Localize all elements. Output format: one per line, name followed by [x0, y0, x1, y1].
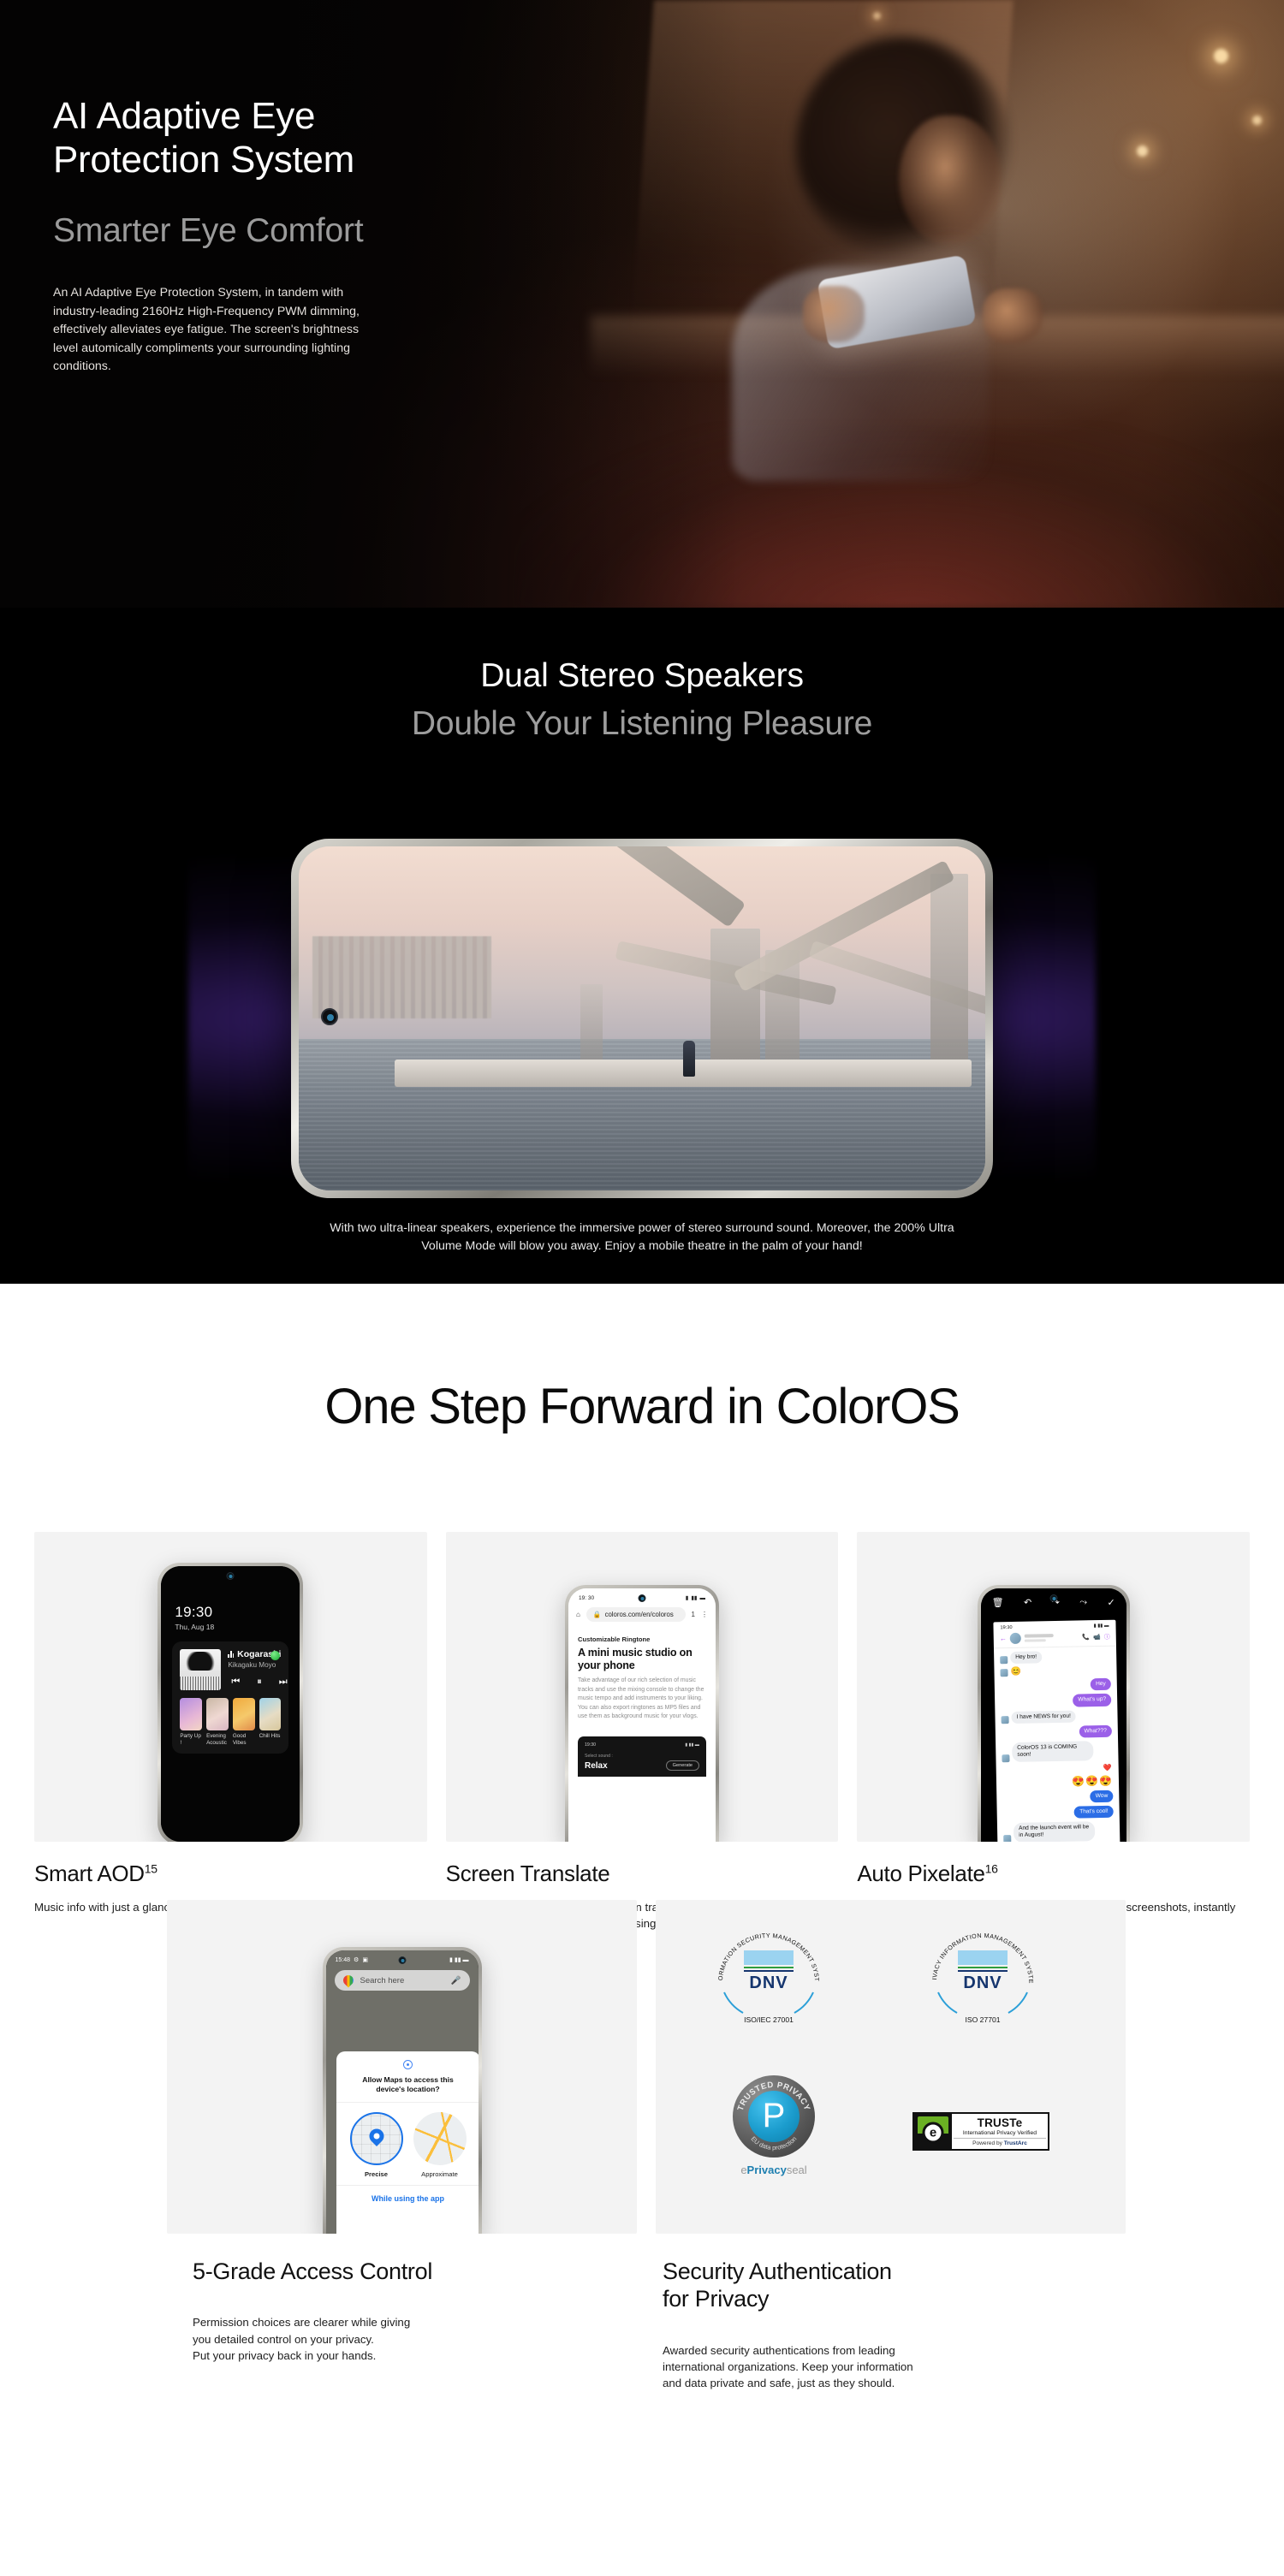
content-paragraph: Take advantage of our rich selection of … [578, 1677, 706, 1721]
precision-options: Precise Approximate [336, 2103, 479, 2185]
powered-prefix: Powered by [972, 2140, 1004, 2146]
chat-bubble: And the launch event will be in August! [1014, 1821, 1096, 1842]
chat-bubble: What's up? [1073, 1694, 1111, 1706]
list-item: ColorOS 13 is COMING soon! [1002, 1741, 1112, 1762]
phone-mockup-aod: 19:30 Thu, Aug 18 Kogarashi [158, 1563, 303, 1842]
avatar [1000, 1656, 1008, 1664]
precise-map-thumb [350, 2112, 403, 2165]
lockscreen-time: 19:30 [175, 1604, 212, 1621]
chat-bubble: That's cool! [1074, 1806, 1114, 1819]
cert-standard-label: ISO/IEC 27001 [744, 2015, 794, 2024]
chat-emoji: 😊 [1010, 1667, 1021, 1677]
dnv-logo-mark-1: DNV [744, 1950, 794, 1993]
eprivacy-label-e: e [740, 2163, 746, 2176]
chat-bubble: ColorOS 13 is COMING soon! [1012, 1741, 1094, 1761]
hero-title-line-1: AI Adaptive Eye [53, 95, 315, 137]
eprivacy-p-disc: P [748, 2091, 800, 2142]
option-label: Precise [350, 2170, 403, 2178]
list-item: I have NEWS for you! [1001, 1709, 1111, 1724]
previous-track-icon[interactable]: ⏮ [231, 1677, 240, 1688]
dnv-wordmark: DNV [744, 1974, 794, 1993]
feature-card-smart-aod: 19:30 Thu, Aug 18 Kogarashi [34, 1532, 427, 1932]
phone-call-icon[interactable]: 📞 [1082, 1634, 1090, 1641]
footnote-marker: 15 [145, 1861, 158, 1875]
content-heading: A mini music studio on your phone [578, 1647, 706, 1671]
playlist-item[interactable]: Party Up ! [180, 1698, 202, 1746]
playlist-row: Party Up ! Evening Acoustic Good Vibes [180, 1698, 281, 1746]
equalizer-icon [228, 1651, 234, 1658]
wifi-icon: ▮ [686, 1594, 689, 1601]
chat-emoji: ❤️ [1103, 1763, 1112, 1771]
front-camera-icon [398, 1956, 406, 1964]
notification-icon: ▣ [362, 1956, 368, 1963]
truste-logo-block: e [914, 2114, 952, 2149]
powered-brand: TrustArc [1004, 2140, 1027, 2146]
status-left: 15:48 ⚙ ▣ [336, 1956, 368, 1963]
avatar [1001, 1716, 1008, 1724]
search-input[interactable]: Search here 🎤 [335, 1970, 470, 1991]
dnv-ring-2: PRIVACY INFORMATION MANAGEMENT SYSTEM DN… [928, 1924, 1037, 2023]
screen-translate-visual: 19: 30 ▮ ▮▮ ▬ ⌂ 🔒 [446, 1532, 839, 1842]
heading-line: Security Authentication [663, 2258, 892, 2284]
body-line: Put your privacy back in your hands. [193, 2349, 376, 2362]
chat-status-time: 19:30 [1000, 1625, 1012, 1630]
playlist-thumb [233, 1698, 255, 1730]
card-heading-security-auth: Security Authentication for Privacy [663, 2258, 1126, 2313]
screenshot-editor: 🗑 ↶ ↷ ⤳ ✓ 19:30 ▮ ▮▮ ▬ [981, 1588, 1126, 1842]
avatar [1000, 1669, 1008, 1677]
tab-count-icon[interactable]: 1 [692, 1611, 695, 1618]
front-camera-icon [321, 1008, 338, 1025]
front-camera-icon [639, 1594, 646, 1602]
maps-permission-ui: 15:48 ⚙ ▣ ▮ ▮▮ ▬ Search here 🎤 [326, 1950, 479, 2234]
dnv-swoosh-left [938, 1992, 957, 2013]
feature-grid-bottom: 15:48 ⚙ ▣ ▮ ▮▮ ▬ Search here 🎤 [167, 1900, 1126, 2392]
while-using-app-button[interactable]: While using the app [336, 2185, 479, 2211]
feature-card-screen-translate: 19: 30 ▮ ▮▮ ▬ ⌂ 🔒 [446, 1532, 839, 1932]
playlist-item[interactable]: Chill Hits [259, 1698, 282, 1746]
feature-grid-top: 19:30 Thu, Aug 18 Kogarashi [34, 1532, 1250, 1932]
dnv-swoosh-right [794, 1992, 813, 2013]
avatar [1003, 1835, 1011, 1842]
maps-logo-icon [341, 1974, 355, 1988]
hero-title: AI Adaptive Eye Protection System [53, 94, 601, 181]
overflow-menu-icon[interactable]: ⋮ [701, 1611, 708, 1618]
feature-card-security-auth: INFORMATION SECURITY MANAGEMENT SYSTEM D… [656, 1900, 1126, 2392]
option-approximate[interactable]: Approximate [413, 2112, 467, 2178]
front-camera-icon [227, 1572, 235, 1580]
lockscreen-date: Thu, Aug 18 [175, 1623, 214, 1631]
option-precise[interactable]: Precise [350, 2112, 403, 2178]
body-line: Permission choices are clearer while giv… [193, 2316, 410, 2329]
inner-select-label: Select sound : [585, 1754, 699, 1759]
music-widget[interactable]: Kogarashi Kikagaku Moyo ⏮ ⏸ ⏭ ♡ [172, 1641, 288, 1754]
chat-bubble: Wow [1090, 1790, 1113, 1802]
dnv-logo-mark-2: DNV [958, 1950, 1008, 1993]
card-heading-text: Screen Translate [446, 1861, 610, 1886]
game-character [683, 1041, 695, 1077]
card-heading-access-control: 5-Grade Access Control [193, 2258, 637, 2285]
inner-status-time: 19:30 [585, 1742, 596, 1748]
truste-title: TRUSTe [954, 2116, 1046, 2129]
security-auth-visual: INFORMATION SECURITY MANAGEMENT SYSTEM D… [656, 1900, 1126, 2234]
truste-subtitle: International Privacy Verified [954, 2130, 1046, 2139]
dnv-swoosh-right [1008, 1992, 1027, 2013]
next-track-icon[interactable]: ⏭ [279, 1677, 288, 1688]
artist-name: Kikagaku Moyo [228, 1661, 281, 1669]
video-call-icon[interactable]: 📹 [1093, 1633, 1101, 1640]
browser-content: Customizable Ringtone A mini music studi… [568, 1628, 716, 1729]
card-body-security-auth: Awarded security authentications from le… [663, 2342, 1126, 2392]
access-control-text: 5-Grade Access Control Permission choice… [167, 2258, 637, 2364]
card-heading-text: Smart AOD [34, 1861, 145, 1886]
cert-dnv-isms: INFORMATION SECURITY MANAGEMENT SYSTEM D… [714, 1924, 823, 2023]
signal-icon: ▮▮ [691, 1594, 697, 1601]
chat-header: ← 📞 📹 ⓘ [993, 1629, 1115, 1649]
phone-mockup-browser: 19: 30 ▮ ▮▮ ▬ ⌂ 🔒 [565, 1585, 719, 1842]
location-pin-icon [403, 2060, 413, 2069]
truste-text-block: TRUSTe International Privacy Verified Po… [952, 2114, 1048, 2149]
permission-question: Allow Maps to access this device's locat… [336, 2069, 479, 2103]
eprivacy-label-seal: seal [787, 2163, 807, 2176]
eprivacy-wordmark: ePrivacyseal [722, 2163, 825, 2176]
phone-screen-browser: 19: 30 ▮ ▮▮ ▬ ⌂ 🔒 [568, 1588, 716, 1842]
truste-powered-by: Powered by TrustArc [954, 2140, 1046, 2146]
back-arrow-icon[interactable]: ← [999, 1635, 1006, 1642]
coloros-title: One Step Forward in ColorOS [0, 1284, 1284, 1435]
url-text: coloros.com/en/coloros [605, 1611, 674, 1618]
smart-aod-visual: 19:30 Thu, Aug 18 Kogarashi [34, 1532, 427, 1842]
coloros-section: One Step Forward in ColorOS 19:30 Thu, A… [0, 1284, 1284, 2576]
playlist-title: Good Vibes [233, 1733, 255, 1746]
dnv-bar-lightblue [958, 1950, 1008, 1965]
access-control-visual: 15:48 ⚙ ▣ ▮ ▮▮ ▬ Search here 🎤 [167, 1900, 637, 2234]
option-label: Approximate [413, 2170, 467, 2178]
phone-mockup-chat: 🗑 ↶ ↷ ⤳ ✓ 19:30 ▮ ▮▮ ▬ [978, 1585, 1130, 1842]
inner-status-icons: ▮ ▮▮ ▬ [685, 1742, 699, 1748]
chat-screenshot: 19:30 ▮ ▮▮ ▬ ← 📞 📹 [993, 1620, 1120, 1842]
microphone-icon[interactable]: 🎤 [451, 1976, 461, 1985]
playlist-thumb [259, 1698, 282, 1730]
status-time: 15:48 [336, 1957, 351, 1963]
status-icons: ▮ ▮▮ ▬ [686, 1594, 705, 1601]
hero-eye-protection-section: AI Adaptive Eye Protection System Smarte… [0, 0, 1284, 608]
card-body-access-control: Permission choices are clearer while giv… [193, 2314, 637, 2364]
search-placeholder: Search here [360, 1976, 444, 1985]
playlist-thumb [180, 1698, 202, 1730]
heading-line: for Privacy [663, 2286, 769, 2312]
dnv-ring-1: INFORMATION SECURITY MANAGEMENT SYSTEM D… [714, 1924, 823, 2023]
playback-controls[interactable]: ⏮ ⏸ ⏭ ♡ [228, 1677, 281, 1688]
list-item: And the launch event will be in August! [1003, 1821, 1114, 1842]
card-heading-auto-pixelate: Auto Pixelate16 [857, 1861, 1250, 1887]
hero-subtitle: Smarter Eye Comfort [53, 212, 601, 250]
chat-status-icons: ▮ ▮▮ ▬ [1093, 1623, 1109, 1629]
inner-sound-name: Relax [585, 1761, 608, 1771]
body-line: and data private and safe, just as they … [663, 2377, 895, 2389]
inner-status-bar: 19:30 ▮ ▮▮ ▬ [585, 1742, 699, 1748]
cert-dnv-pims: PRIVACY INFORMATION MANAGEMENT SYSTEM DN… [928, 1924, 1037, 2023]
speakers-subtitle: Double Your Listening Pleasure [0, 705, 1284, 743]
hero-copy-block: AI Adaptive Eye Protection System Smarte… [53, 94, 601, 377]
footnote-marker: 16 [985, 1861, 998, 1875]
browser-toolbar[interactable]: ⌂ 🔒 coloros.com/en/coloros 1 ⋮ [568, 1603, 716, 1628]
pause-icon[interactable]: ⏸ [257, 1677, 262, 1688]
chat-bubble: Hey [1091, 1678, 1111, 1691]
phone-mockup-maps: 15:48 ⚙ ▣ ▮ ▮▮ ▬ Search here 🎤 [323, 1947, 482, 2234]
dnv-bar-green [958, 1967, 1008, 1969]
map-roads [413, 2112, 467, 2165]
landscape-phone-mockup [291, 839, 993, 1198]
playlist-item[interactable]: Evening Acoustic [206, 1698, 229, 1746]
playlist-thumb [206, 1698, 229, 1730]
cert-truste: e TRUSTe International Privacy Verified … [912, 2112, 1049, 2151]
contact-name-pixelated [1024, 1633, 1079, 1641]
settings-gear-icon: ⚙ [354, 1956, 359, 1963]
inner-sound-row: Relax Generate [585, 1760, 699, 1771]
dual-stereo-speakers-section: Dual Stereo Speakers Double Your Listeni… [0, 608, 1284, 1284]
landscape-phone-screen [299, 846, 985, 1190]
game-skyline [312, 936, 491, 1018]
content-kicker: Customizable Ringtone [578, 1635, 706, 1643]
generate-button[interactable]: Generate [666, 1760, 699, 1771]
playlist-title: Chill Hits [259, 1733, 282, 1740]
hero-body-text: An AI Adaptive Eye Protection System, in… [53, 284, 370, 377]
chat-bubble: What??? [1079, 1725, 1112, 1738]
list-item: 😊 [1000, 1665, 1110, 1677]
hero-title-line-2: Protection System [53, 139, 354, 181]
speakers-caption: With two ultra-linear speakers, experien… [317, 1220, 967, 1256]
avatar [1009, 1633, 1020, 1644]
speakers-title: Dual Stereo Speakers [0, 608, 1284, 695]
eprivacy-label-privacy: Privacy [747, 2163, 787, 2176]
list-item: Hey bro! [1000, 1650, 1110, 1665]
front-camera-icon [1049, 1594, 1057, 1602]
chat-header-actions[interactable]: 📞 📹 ⓘ [1082, 1632, 1110, 1641]
confirm-check-icon[interactable]: ✓ [1107, 1597, 1115, 1608]
playlist-item[interactable]: Good Vibes [233, 1698, 255, 1746]
dnv-bar-navy [744, 1970, 794, 1973]
body-line: you detailed control on your privacy. [193, 2333, 374, 2346]
album-art [180, 1649, 221, 1690]
security-auth-text: Security Authentication for Privacy Awar… [656, 2258, 1126, 2392]
game-scene-image [299, 846, 985, 1190]
chat-emoji: 😍😍😍 [1072, 1774, 1113, 1787]
playlist-title: Party Up ! [180, 1733, 202, 1746]
status-time: 19: 30 [579, 1595, 594, 1601]
cert-standard-label: ISO 27701 [965, 2015, 1000, 2024]
chat-bubble: Hey bro! [1010, 1651, 1042, 1664]
truste-e-icon: e [923, 2122, 944, 2144]
avatar [1002, 1754, 1009, 1762]
address-bar[interactable]: 🔒 coloros.com/en/coloros [586, 1607, 686, 1622]
browser-ui: 19: 30 ▮ ▮▮ ▬ ⌂ 🔒 [568, 1588, 716, 1842]
dnv-bar-green [744, 1967, 794, 1969]
dnv-swoosh-left [724, 1992, 743, 2013]
chat-bubble: I have NEWS for you! [1011, 1710, 1076, 1724]
home-icon[interactable]: ⌂ [576, 1611, 580, 1618]
body-line: international organizations. Keep your i… [663, 2360, 913, 2373]
body-line: Awarded security authentications from le… [663, 2344, 895, 2357]
phone-screen-aod: 19:30 Thu, Aug 18 Kogarashi [161, 1566, 300, 1842]
chat-message-list: Hey bro! 😊 Hey What's up? I have NEWS fo… [994, 1647, 1120, 1842]
status-right-icons: ▮ ▮▮ ▬ [449, 1956, 468, 1963]
dnv-wordmark: DNV [958, 1974, 1008, 1993]
permission-dialog: Allow Maps to access this device's locat… [336, 2051, 479, 2234]
truste-badge: e TRUSTe International Privacy Verified … [912, 2112, 1049, 2151]
feature-card-access-control: 15:48 ⚙ ▣ ▮ ▮▮ ▬ Search here 🎤 [167, 1900, 637, 2392]
info-icon[interactable]: ⓘ [1103, 1632, 1109, 1641]
auto-pixelate-visual: 🗑 ↶ ↷ ⤳ ✓ 19:30 ▮ ▮▮ ▬ [857, 1532, 1250, 1842]
dnv-bar-lightblue [744, 1950, 794, 1965]
battery-icon: ▬ [700, 1595, 706, 1601]
inner-phone-preview: 19:30 ▮ ▮▮ ▬ Select sound : Relax Genera… [578, 1736, 706, 1777]
undo-icon[interactable]: ↶ [1024, 1597, 1031, 1608]
share-icon[interactable]: ⤳ [1079, 1597, 1087, 1608]
lock-icon: 🔒 [593, 1611, 602, 1618]
eprivacy-letter-p: P [763, 2098, 786, 2133]
playlist-title: Evening Acoustic [206, 1733, 229, 1746]
eprivacy-seal-mark: TRUSTED PRIVACY EU data protection P [733, 2075, 815, 2158]
delete-icon[interactable]: 🗑 [992, 1597, 1004, 1608]
cert-eprivacyseal: TRUSTED PRIVACY EU data protection P [722, 2075, 825, 2176]
phone-screen-chat: 🗑 ↶ ↷ ⤳ ✓ 19:30 ▮ ▮▮ ▬ [981, 1588, 1126, 1842]
card-heading-smart-aod: Smart AOD15 [34, 1861, 427, 1887]
feature-card-auto-pixelate: 🗑 ↶ ↷ ⤳ ✓ 19:30 ▮ ▮▮ ▬ [857, 1532, 1250, 1932]
dnv-bar-navy [958, 1970, 1008, 1973]
approximate-map-thumb [413, 2112, 467, 2165]
certification-badges: INFORMATION SECURITY MANAGEMENT SYSTEM D… [656, 1900, 1126, 2234]
always-on-display: 19:30 Thu, Aug 18 Kogarashi [161, 1566, 300, 1842]
card-heading-screen-translate: Screen Translate [446, 1861, 839, 1887]
phone-screen-maps: 15:48 ⚙ ▣ ▮ ▮▮ ▬ Search here 🎤 [326, 1950, 479, 2234]
card-heading-text: Auto Pixelate [857, 1861, 984, 1886]
